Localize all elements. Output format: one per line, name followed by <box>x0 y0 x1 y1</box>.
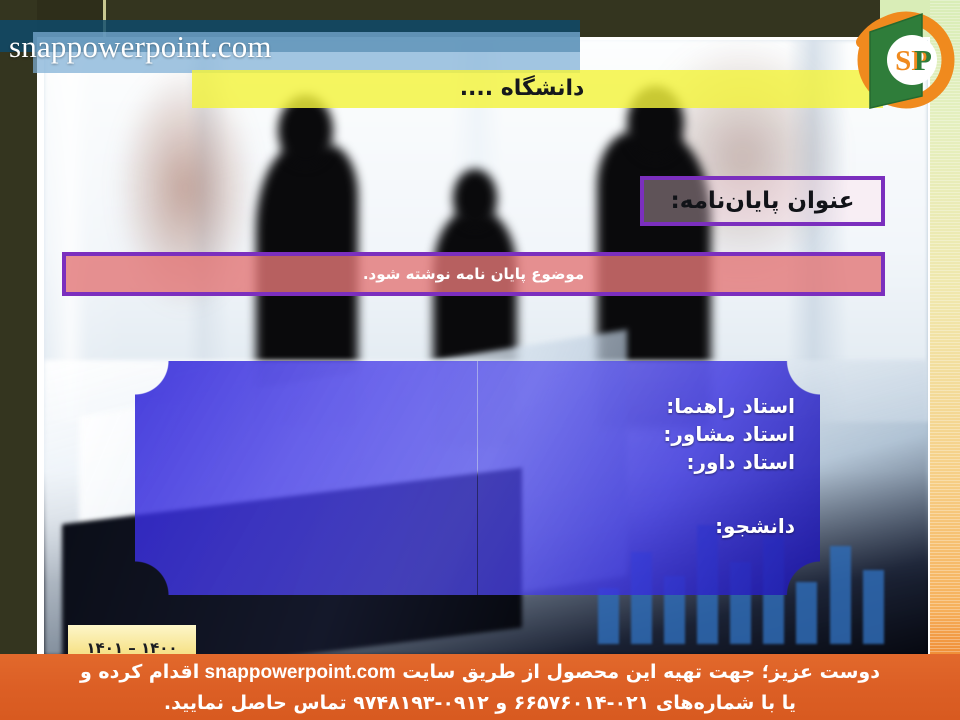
promo-footer-line-2: یا با شماره‌های ۰۲۱-۶۶۵۷۶۰۱۴ و ۰۹۱۲-۹۷۴۸… <box>0 688 960 719</box>
label-examiner: استاد داور: <box>440 448 795 476</box>
promo-phones-suffix: تماس حاصل نمایید. <box>164 692 347 714</box>
label-spacer <box>440 476 795 512</box>
svg-text:P: P <box>914 45 932 77</box>
label-advisor: استاد مشاور: <box>440 420 795 448</box>
promo-phones-prefix: یا با شماره‌های <box>649 692 796 714</box>
sp-logo[interactable]: SP P <box>856 8 956 116</box>
photo-chart-bar <box>598 588 619 644</box>
label-supervisor: استاد راهنما: <box>440 392 795 420</box>
promo-phone-mobile: ۰۹۱۲-۹۷۴۸۱۹۳ <box>347 692 489 714</box>
presentation-slide: snappowerpoint.com دانشگاه .... عنوان پا… <box>0 0 960 720</box>
sp-logo-icon: SP P <box>856 8 956 116</box>
label-student: دانشجو: <box>440 512 795 540</box>
thesis-subject-placeholder[interactable]: موضوع پایان نامه نوشته شود. <box>62 252 885 296</box>
promo-text-before: دوست عزیز؛ جهت تهیه این محصول از طریق سا… <box>396 661 880 683</box>
photo-chart-bar <box>863 570 884 644</box>
university-banner-text: دانشگاه .... <box>192 70 852 108</box>
promo-footer: دوست عزیز؛ جهت تهیه این محصول از طریق سا… <box>0 654 960 720</box>
promo-phones-and: و <box>489 692 507 714</box>
promo-phone-landline: ۰۲۱-۶۶۵۷۶۰۱۴ <box>507 692 649 714</box>
photo-chart-bar <box>830 546 851 644</box>
promo-site-link[interactable]: snappowerpoint.com <box>199 662 395 683</box>
thesis-title-label: عنوان پایان‌نامه: <box>640 176 885 226</box>
people-labels-group: استاد راهنما: استاد مشاور: استاد داور: د… <box>440 392 795 540</box>
left-dark-band <box>0 0 37 656</box>
promo-footer-line-1: دوست عزیز؛ جهت تهیه این محصول از طریق سا… <box>0 657 960 688</box>
silhouette-person-2-head <box>453 169 497 228</box>
promo-text-after: اقدام کرده و <box>80 661 199 683</box>
watermark-text: snappowerpoint.com <box>9 26 569 68</box>
